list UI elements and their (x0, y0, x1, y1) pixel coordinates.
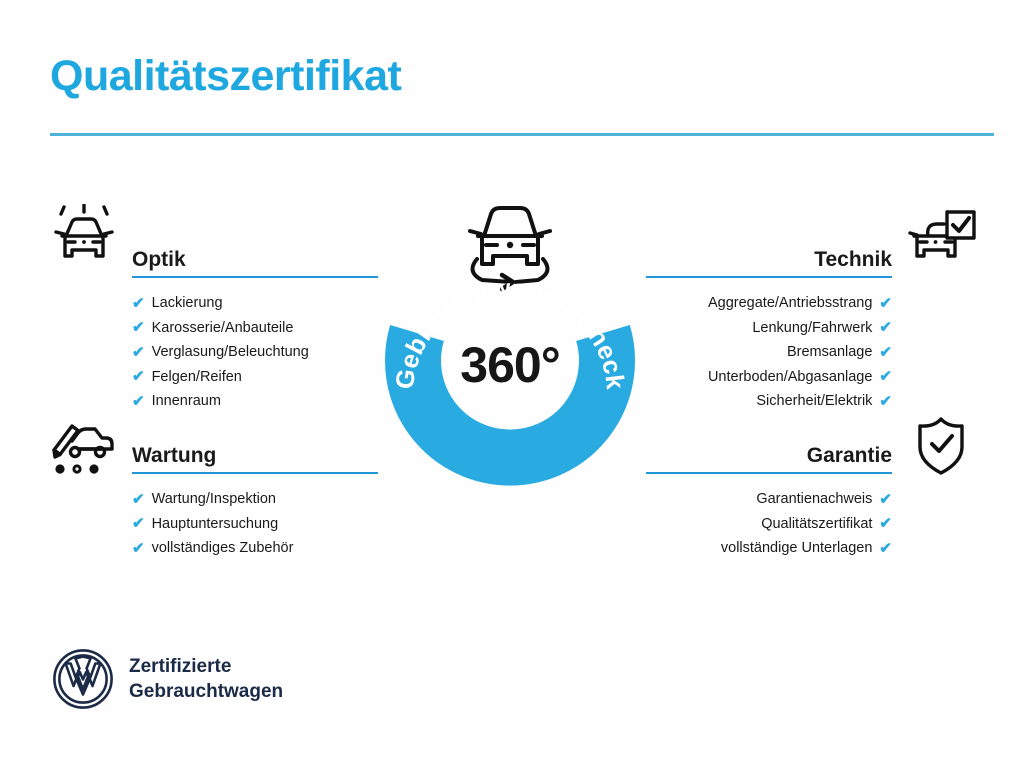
footer-branding: Zertifizierte Gebrauchtwagen (52, 648, 283, 710)
car-polish-icon (48, 204, 120, 268)
check-icon: ✔ (132, 516, 145, 531)
section-head: Technik (646, 238, 892, 278)
section-technik: Technik Aggregate/Antriebsstrang ✔ Lenku… (646, 238, 892, 414)
badge-center-value: 360° (380, 336, 640, 394)
list-item-label: Qualitätszertifikat (761, 512, 872, 537)
checklist: Garantienachweis ✔ Qualitätszertifikat ✔… (646, 487, 892, 561)
list-item-label: Verglasung/Beleuchtung (152, 340, 309, 365)
list-item: Bremsanlage ✔ (646, 340, 892, 365)
section-title: Wartung (132, 444, 216, 468)
list-item-label: vollständige Unterlagen (721, 536, 873, 561)
check-icon: ✔ (879, 345, 892, 360)
section-head: Optik (132, 238, 378, 278)
list-item-label: Felgen/Reifen (152, 365, 242, 390)
check-icon: ✔ (879, 492, 892, 507)
section-underline (646, 276, 892, 278)
list-item: vollständige Unterlagen ✔ (646, 536, 892, 561)
list-item: ✔ Verglasung/Beleuchtung (132, 340, 378, 365)
list-item: Qualitätszertifikat ✔ (646, 512, 892, 537)
footer-text: Zertifizierte Gebrauchtwagen (129, 654, 283, 704)
car-service-pen-icon (48, 416, 120, 480)
certificate-page: Qualitätszertifikat Optik ✔ Lackierung (0, 0, 1024, 768)
title-divider (50, 133, 994, 136)
page-title: Qualitätszertifikat (50, 52, 401, 101)
check-icon: ✔ (132, 296, 145, 311)
checklist: ✔ Wartung/Inspektion ✔ Hauptuntersuchung… (132, 487, 378, 561)
shield-check-icon (910, 414, 982, 478)
check-icon: ✔ (879, 541, 892, 556)
list-item: Lenkung/Fahrwerk ✔ (646, 316, 892, 341)
list-item-label: vollständiges Zubehör (152, 536, 294, 561)
list-item: ✔ Hauptuntersuchung (132, 512, 378, 537)
list-item: Garantienachweis ✔ (646, 487, 892, 512)
list-item: Sicherheit/Elektrik ✔ (646, 389, 892, 414)
vw-logo-icon (52, 648, 114, 710)
list-item-label: Lackierung (152, 291, 223, 316)
section-title: Technik (814, 248, 892, 272)
check-icon: ✔ (132, 394, 145, 409)
list-item: ✔ Wartung/Inspektion (132, 487, 378, 512)
list-item-label: Aggregate/Antriebsstrang (708, 291, 872, 316)
section-underline (132, 472, 378, 474)
section-title: Garantie (807, 444, 892, 468)
check-icon: ✔ (879, 320, 892, 335)
section-underline (646, 472, 892, 474)
footer-line-1: Zertifizierte (129, 654, 283, 679)
check-icon: ✔ (879, 296, 892, 311)
checklist: Aggregate/Antriebsstrang ✔ Lenkung/Fahrw… (646, 291, 892, 414)
checklist: ✔ Lackierung ✔ Karosserie/Anbauteile ✔ V… (132, 291, 378, 414)
list-item: ✔ Karosserie/Anbauteile (132, 316, 378, 341)
section-optik: Optik ✔ Lackierung ✔ Karosserie/Anbautei… (132, 238, 378, 414)
section-head: Wartung (132, 434, 378, 474)
list-item: ✔ Lackierung (132, 291, 378, 316)
section-garantie: Garantie Garantienachweis ✔ Qualitätszer… (646, 434, 892, 561)
list-item-label: Garantienachweis (756, 487, 872, 512)
list-item-label: Unterboden/Abgasanlage (708, 365, 872, 390)
list-item-label: Lenkung/Fahrwerk (752, 316, 872, 341)
section-underline (132, 276, 378, 278)
section-wartung: Wartung ✔ Wartung/Inspektion ✔ Hauptunte… (132, 434, 378, 561)
check-icon: ✔ (879, 516, 892, 531)
check-icon: ✔ (132, 345, 145, 360)
check-icon: ✔ (879, 369, 892, 384)
check-icon: ✔ (132, 369, 145, 384)
section-head: Garantie (646, 434, 892, 474)
list-item-label: Bremsanlage (787, 340, 872, 365)
list-item: ✔ Innenraum (132, 389, 378, 414)
list-item-label: Wartung/Inspektion (152, 487, 276, 512)
check-icon: ✔ (132, 492, 145, 507)
check-icon: ✔ (132, 320, 145, 335)
footer-line-2: Gebrauchtwagen (129, 679, 283, 704)
car-checkbox-icon (906, 208, 978, 272)
check-icon: ✔ (879, 394, 892, 409)
check-icon: ✔ (132, 541, 145, 556)
list-item: ✔ Felgen/Reifen (132, 365, 378, 390)
list-item: Unterboden/Abgasanlage ✔ (646, 365, 892, 390)
360-check-badge: Gebrauchtwagen-Check 360° (380, 196, 640, 492)
list-item-label: Innenraum (152, 389, 221, 414)
list-item-label: Hauptuntersuchung (152, 512, 279, 537)
list-item-label: Sicherheit/Elektrik (756, 389, 872, 414)
list-item: Aggregate/Antriebsstrang ✔ (646, 291, 892, 316)
list-item-label: Karosserie/Anbauteile (152, 316, 294, 341)
section-title: Optik (132, 248, 186, 272)
list-item: ✔ vollständiges Zubehör (132, 536, 378, 561)
